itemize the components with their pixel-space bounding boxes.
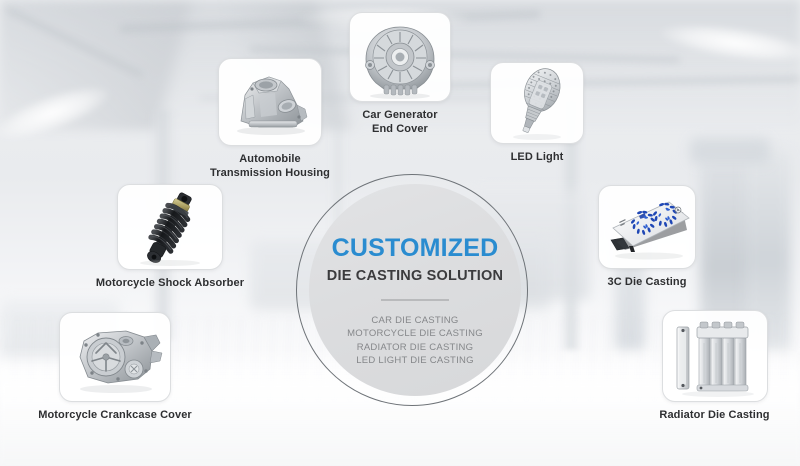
product-card[interactable] <box>218 58 322 146</box>
product-card[interactable] <box>59 312 171 402</box>
center-list-item: LED LIGHT DIE CASTING <box>347 354 483 368</box>
infographic-canvas: CUSTOMIZED DIE CASTING SOLUTION CAR DIE … <box>0 0 800 466</box>
product-label-line: Motorcycle Shock Absorber <box>75 277 265 291</box>
product-label: Car Generator End Cover <box>330 109 470 136</box>
led-light-icon <box>491 63 583 143</box>
center-subtitle: DIE CASTING SOLUTION <box>327 269 503 284</box>
center-circle-content: CUSTOMIZED DIE CASTING SOLUTION CAR DIE … <box>309 184 521 396</box>
product-label-line: Motorcycle Crankcase Cover <box>20 409 210 423</box>
center-list-item: MOTORCYCLE DIE CASTING <box>347 327 483 341</box>
product-label-line: LED Light <box>487 151 587 165</box>
product-node-motorcycle-shock-absorber[interactable]: Motorcycle Shock Absorber <box>75 184 265 291</box>
center-category-list: CAR DIE CASTING MOTORCYCLE DIE CASTING R… <box>347 314 483 368</box>
product-label-line: Radiator Die Casting <box>642 409 787 423</box>
generator-end-cover-icon <box>350 13 450 101</box>
product-label: Radiator Die Casting <box>642 409 787 423</box>
product-card[interactable] <box>662 310 768 402</box>
product-label: Motorcycle Crankcase Cover <box>20 409 210 423</box>
product-label-line: 3C Die Casting <box>592 276 702 290</box>
product-label-line: Automobile <box>190 153 350 167</box>
laptop-cooler-icon <box>599 186 695 268</box>
product-label: LED Light <box>487 151 587 165</box>
product-card[interactable] <box>598 185 696 269</box>
product-label: Automobile Transmission Housing <box>190 153 350 180</box>
product-card[interactable] <box>490 62 584 144</box>
center-list-item: CAR DIE CASTING <box>347 314 483 328</box>
product-card[interactable] <box>349 12 451 102</box>
product-node-radiator-die-casting[interactable]: Radiator Die Casting <box>642 310 787 423</box>
radiator-icon <box>663 311 767 401</box>
shock-absorber-icon <box>118 185 222 269</box>
transmission-housing-icon <box>219 59 321 145</box>
center-title: CUSTOMIZED <box>332 236 499 261</box>
product-label-line: Car Generator <box>330 109 470 123</box>
machinery-blur <box>690 138 770 164</box>
product-node-automobile-transmission-housing[interactable]: Automobile Transmission Housing <box>190 58 350 180</box>
product-label-line: End Cover <box>330 123 470 137</box>
product-node-car-generator-end-cover[interactable]: Car Generator End Cover <box>330 12 470 136</box>
product-card[interactable] <box>117 184 223 270</box>
product-node-3c-die-casting[interactable]: 3C Die Casting <box>592 185 702 290</box>
product-label: 3C Die Casting <box>592 276 702 290</box>
crankcase-cover-icon <box>60 313 170 401</box>
center-list-item: RADIATOR DIE CASTING <box>347 341 483 355</box>
product-node-motorcycle-crankcase-cover[interactable]: Motorcycle Crankcase Cover <box>20 312 210 423</box>
product-label-line: Transmission Housing <box>190 167 350 181</box>
center-divider <box>381 299 449 301</box>
product-node-led-light[interactable]: LED Light <box>487 62 587 165</box>
product-label: Motorcycle Shock Absorber <box>75 277 265 291</box>
